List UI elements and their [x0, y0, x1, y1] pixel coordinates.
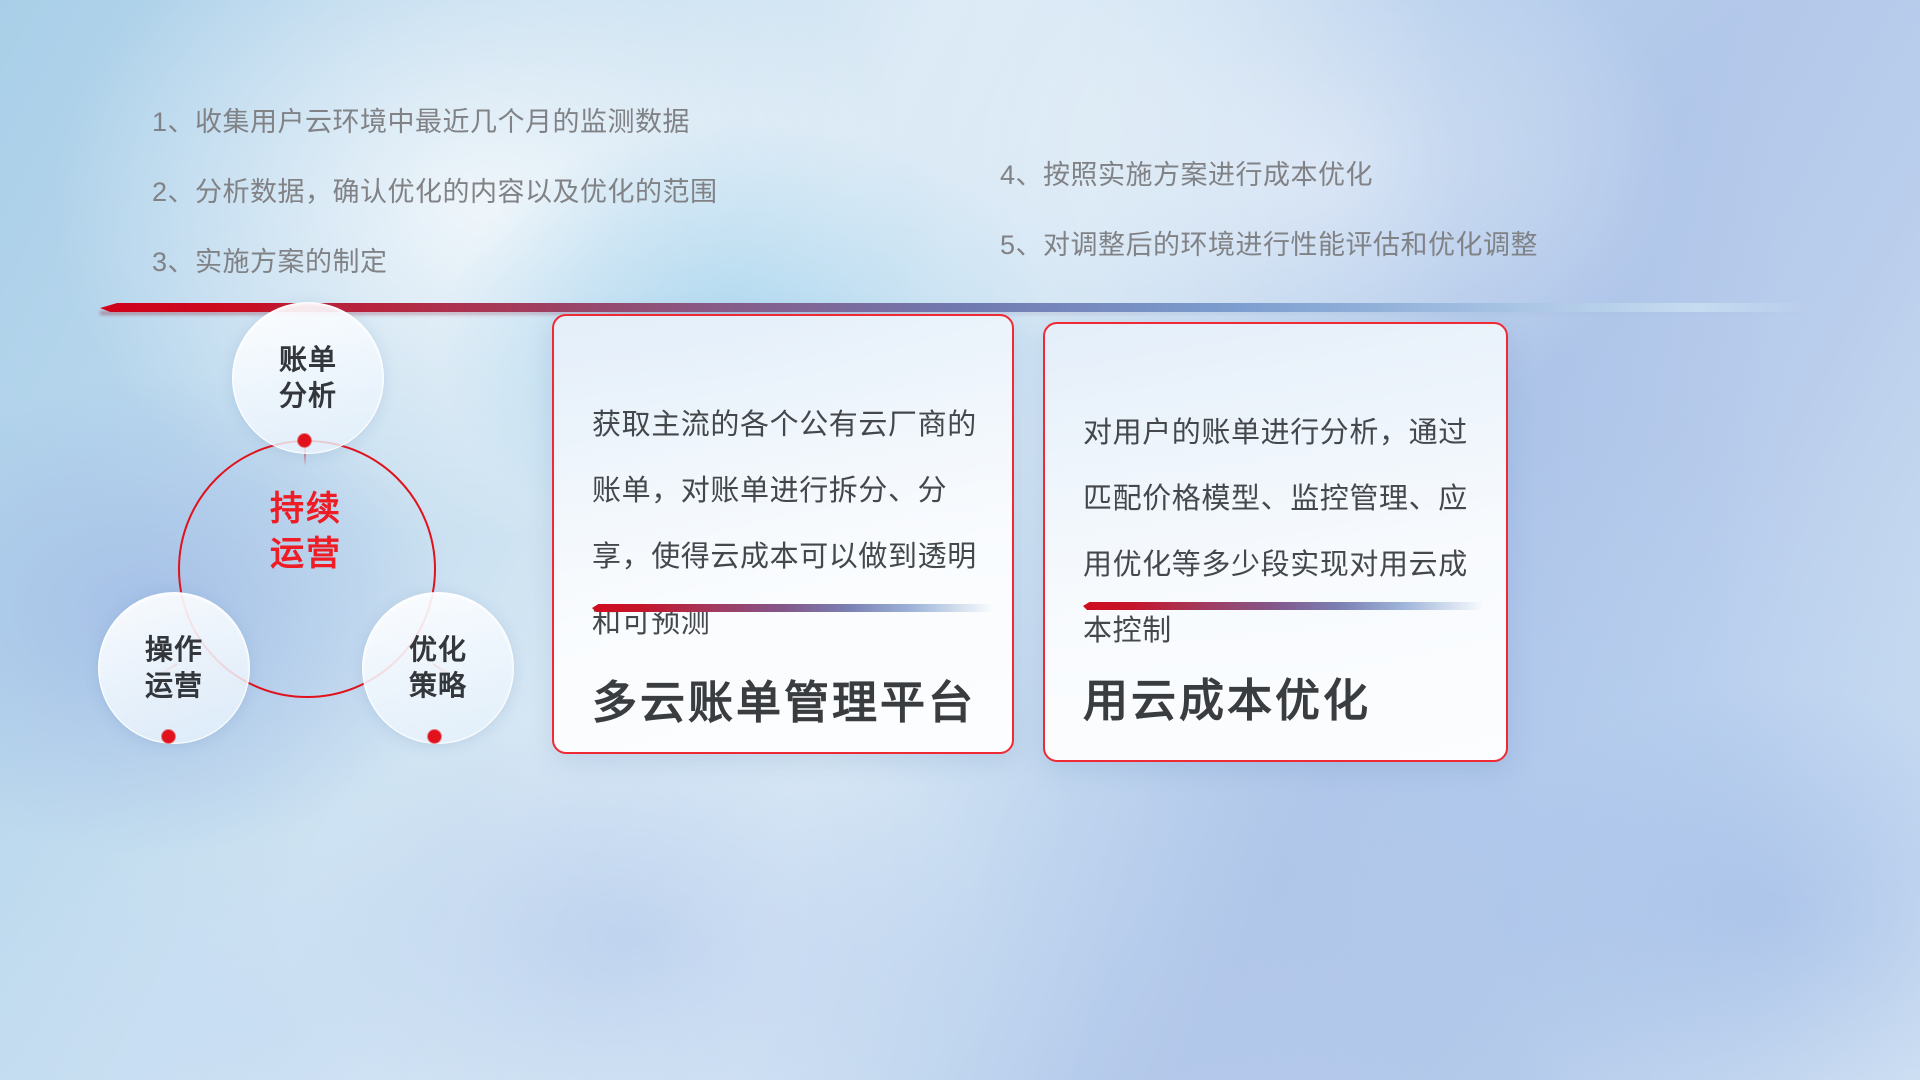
card-cloud-cost-optimization[interactable]: 对用户的账单进行分析，通过匹配价格模型、监控管理、应用优化等多少段实现对用云成本… [1043, 322, 1508, 762]
venn-label-line2: 策略 [409, 668, 467, 704]
venn-diagram: 账单 分析 操作 运营 优化 策略 持续 运营 [90, 290, 530, 780]
card-multi-cloud-billing-platform[interactable]: 获取主流的各个公有云厂商的账单，对账单进行拆分、分享，使得云成本可以做到透明和可… [552, 314, 1014, 754]
venn-node-dot-right [428, 730, 441, 743]
card-divider [592, 604, 992, 612]
venn-label-line1: 账单 [279, 342, 337, 378]
steps-right-column: 4、按照实施方案进行成本优化 5、对调整后的环境进行性能评估和优化调整 [1000, 153, 1538, 293]
card-body-text: 获取主流的各个公有云厂商的账单，对账单进行拆分、分享，使得云成本可以做到透明和可… [592, 392, 978, 656]
steps-left-column: 1、收集用户云环境中最近几个月的监测数据 2、分析数据，确认优化的内容以及优化的… [152, 100, 718, 310]
venn-circle-operation-management[interactable]: 操作 运营 [98, 592, 250, 744]
venn-circle-label-optimization-strategy: 优化 策略 [409, 632, 467, 704]
venn-label-line1: 操作 [145, 632, 203, 668]
venn-center-label-line2: 运营 [246, 532, 366, 577]
step-item-5: 5、对调整后的环境进行性能评估和优化调整 [1000, 223, 1538, 262]
venn-circle-label-operation-management: 操作 运营 [145, 632, 203, 704]
venn-circle-optimization-strategy[interactable]: 优化 策略 [362, 592, 514, 744]
venn-center-label-line1: 持续 [246, 487, 366, 532]
card-body-text: 对用户的账单进行分析，通过匹配价格模型、监控管理、应用优化等多少段实现对用云成本… [1083, 400, 1472, 664]
card-divider [1083, 602, 1483, 610]
card-title: 多云账单管理平台 [592, 666, 976, 731]
venn-circle-label-billing-analysis: 账单 分析 [279, 342, 337, 414]
venn-node-dot-left [162, 730, 175, 743]
step-item-2: 2、分析数据，确认优化的内容以及优化的范围 [152, 170, 718, 209]
slide-content: 1、收集用户云环境中最近几个月的监测数据 2、分析数据，确认优化的内容以及优化的… [0, 0, 1920, 1080]
venn-label-line2: 分析 [279, 378, 337, 414]
venn-label-line1: 优化 [409, 632, 467, 668]
step-item-3: 3、实施方案的制定 [152, 240, 718, 279]
venn-label-line2: 运营 [145, 668, 203, 704]
card-title: 用云成本优化 [1083, 664, 1371, 729]
step-item-4: 4、按照实施方案进行成本优化 [1000, 153, 1538, 192]
venn-circle-billing-analysis[interactable]: 账单 分析 [232, 302, 384, 454]
step-item-1: 1、收集用户云环境中最近几个月的监测数据 [152, 100, 718, 139]
venn-node-dot-top [298, 434, 311, 447]
venn-center-label: 持续 运营 [246, 487, 366, 577]
